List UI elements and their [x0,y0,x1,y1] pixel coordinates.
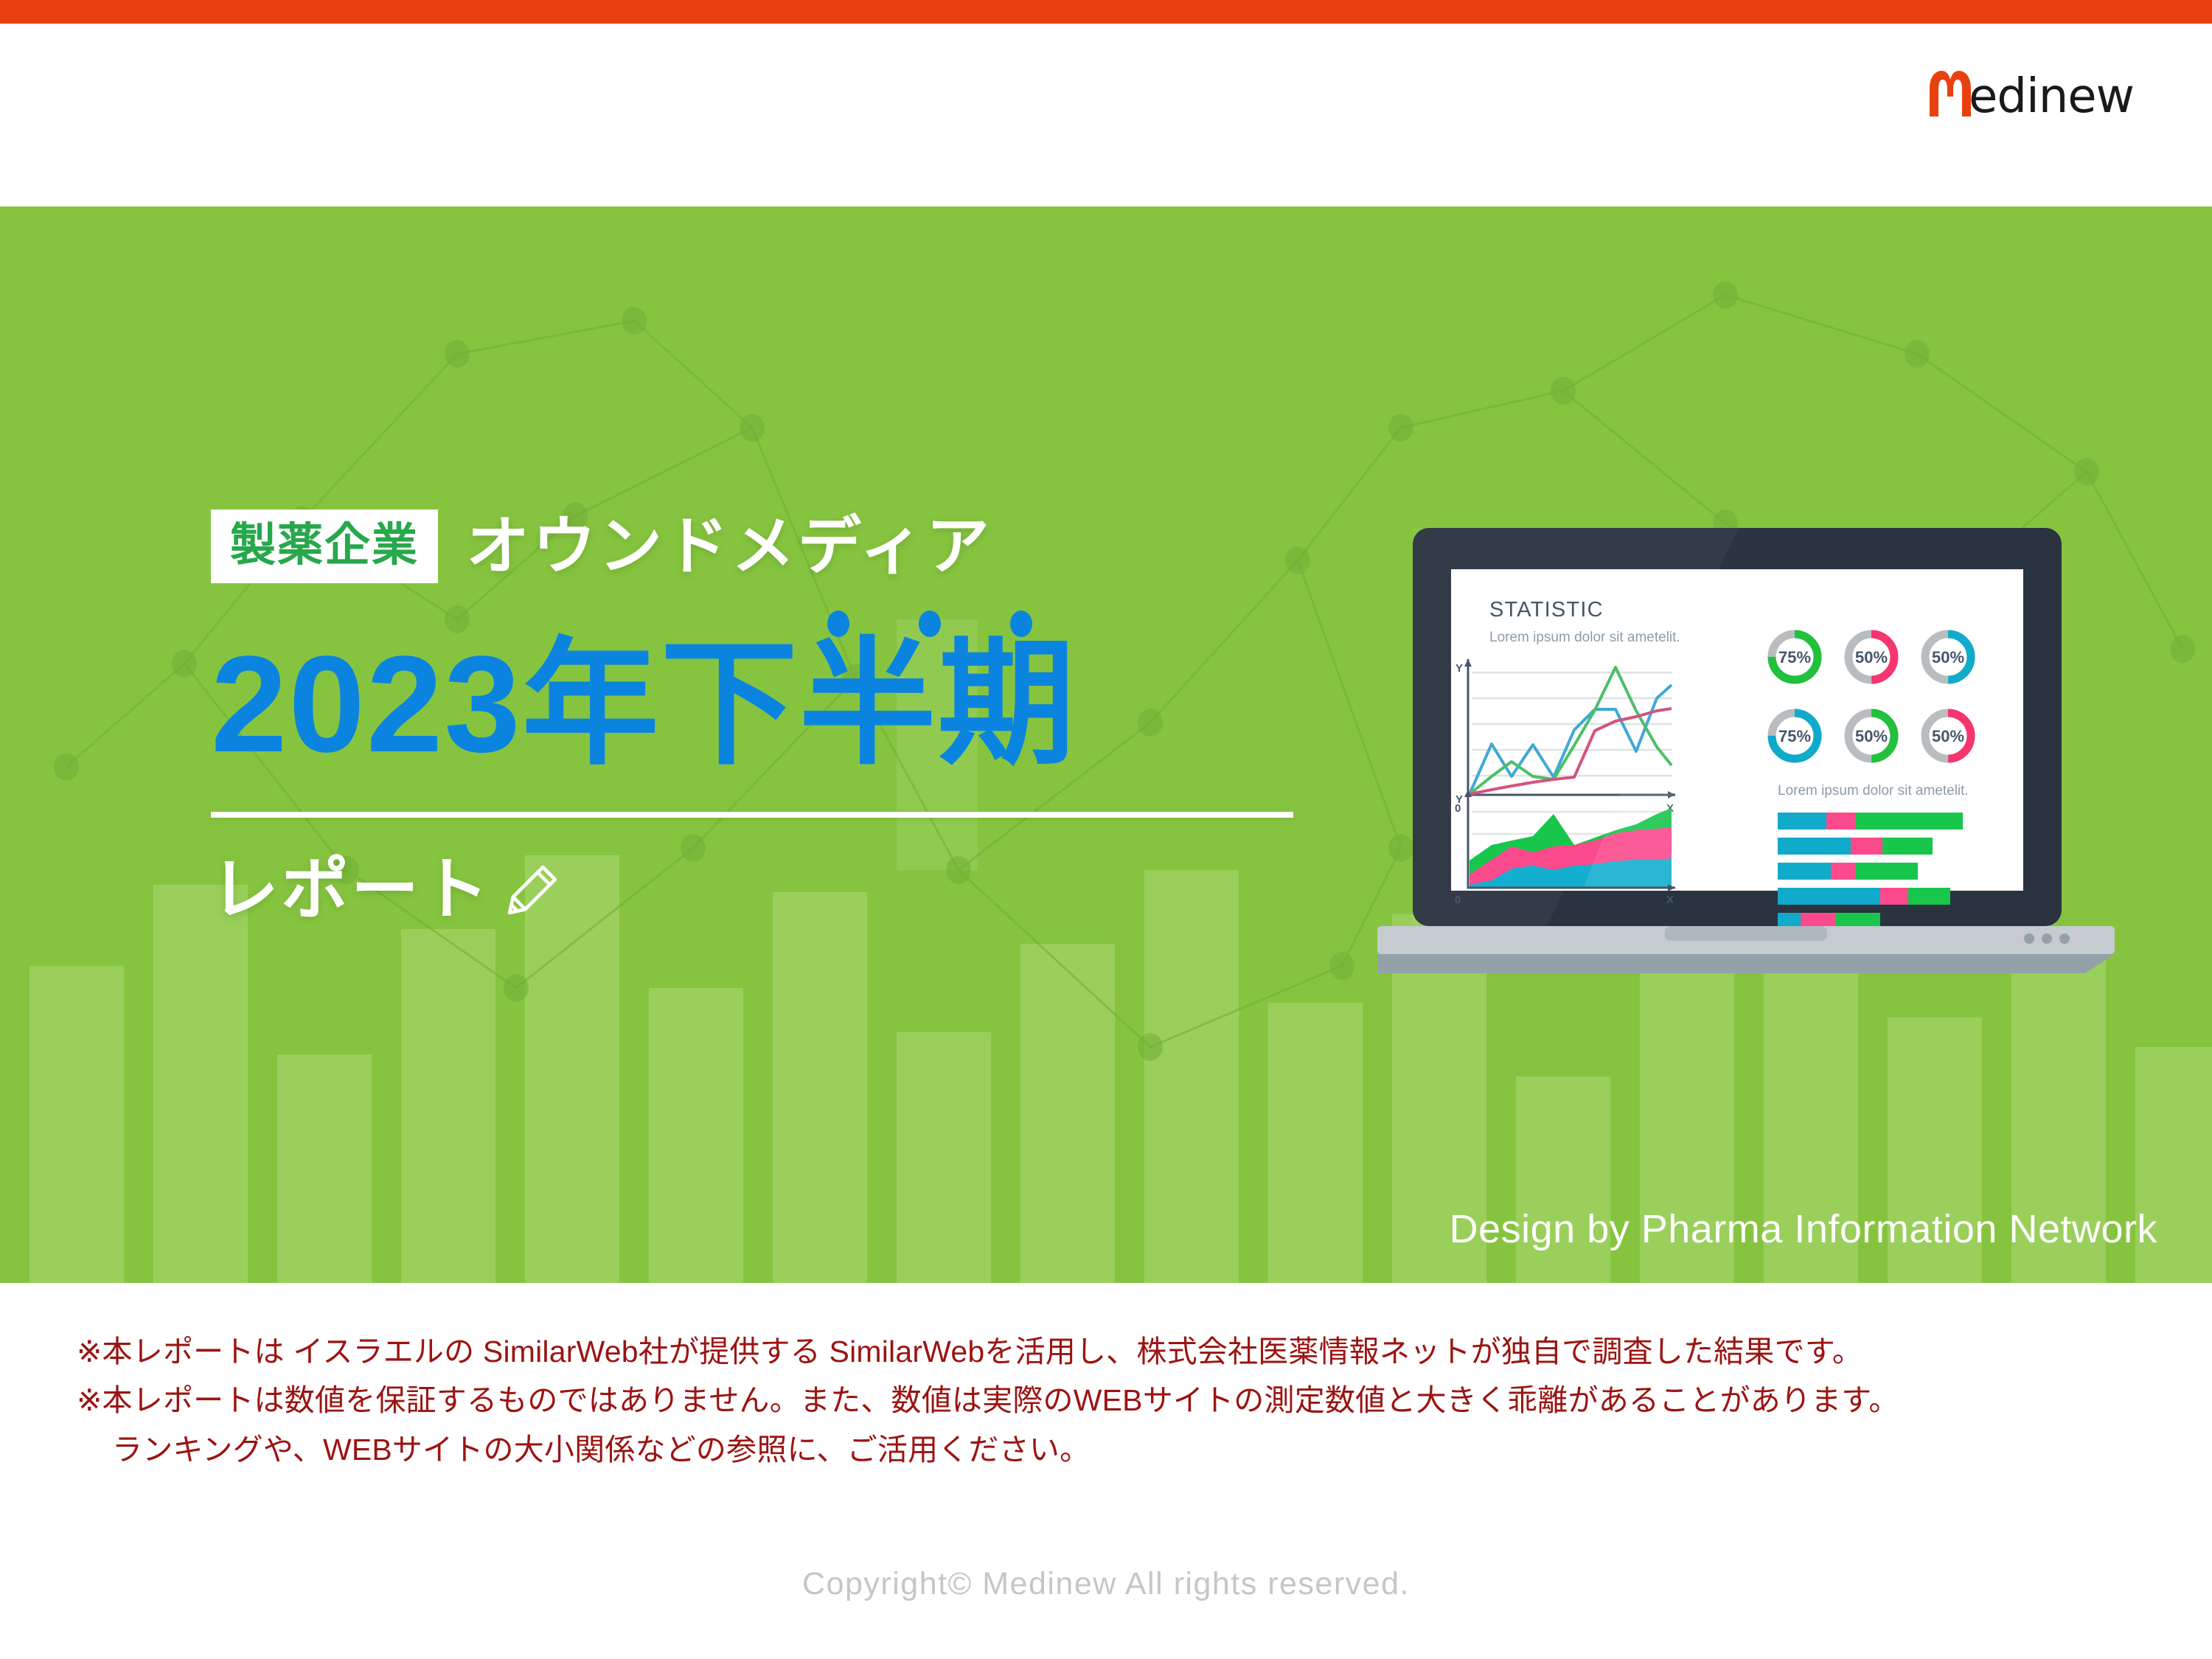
stacked-bar-row [1778,863,1918,880]
svg-text:50%: 50% [1932,727,1964,745]
stacked-bar-row [1778,888,1950,905]
note-line-1: ※本レポートは イスラエルの SimilarWeb社が提供する SimilarW… [77,1327,2141,1376]
hero-kicker: オウンドメディア [466,515,992,578]
screen-subtitle: Lorem ipsum dolor sit ametelit. [1489,630,1680,645]
bars-caption: Lorem ipsum dolor sit ametelit. [1778,783,1969,799]
category-badge: 製薬企業 [211,509,438,583]
hero-subtitle: レポート [211,856,491,924]
note-line-3: ランキングや、WEBサイトの大小関係などの参照に、ご活用ください。 [77,1425,2141,1474]
svg-text:Y: Y [1455,793,1463,806]
page-header: edinew [0,24,2212,206]
pencil-icon [504,862,560,918]
medinew-logo[interactable]: edinew [1923,66,2147,121]
svg-text:50%: 50% [1855,727,1888,745]
disclaimer-notes: ※本レポートは イスラエルの SimilarWeb社が提供する SimilarW… [77,1327,2141,1474]
stacked-bar-row [1778,813,1963,829]
svg-text:Y: Y [1455,662,1463,675]
note-line-2: ※本レポートは数値を保証するものではありません。また、数値は実際のWEBサイトの… [77,1376,2141,1425]
design-credit: Design by Pharma Information Network [1450,1206,2157,1252]
svg-text:50%: 50% [1932,648,1964,667]
hero-subtitle-row: レポート [211,856,1391,924]
logo-wordmark: edinew [1969,73,2134,120]
svg-text:75%: 75% [1778,727,1811,745]
svg-text:X: X [1666,894,1674,906]
svg-text:50%: 50% [1855,648,1888,667]
stacked-bar-row [1778,838,1933,855]
top-accent-bar [0,0,2212,24]
screen-title: STATISTIC [1489,598,1604,622]
copyright-text: Copyright© Medinew All rights reserved. [0,1566,2212,1602]
svg-text:0: 0 [1455,894,1461,906]
laptop-illustration: STATISTIC Lorem ipsum dolor sit ametelit… [1377,528,2115,985]
svg-text:75%: 75% [1778,648,1811,667]
hero-text-block: 製薬企業 オウンドメディア 2023年下半期 レポート [211,501,1391,924]
hero-divider [211,812,1293,818]
hero-banner: 製薬企業 オウンドメディア 2023年下半期 レポート [0,206,2212,1283]
hero-title-row: 製薬企業 オウンドメディア [211,501,1391,591]
hero-main-title: 2023年下半期 [211,633,1391,776]
